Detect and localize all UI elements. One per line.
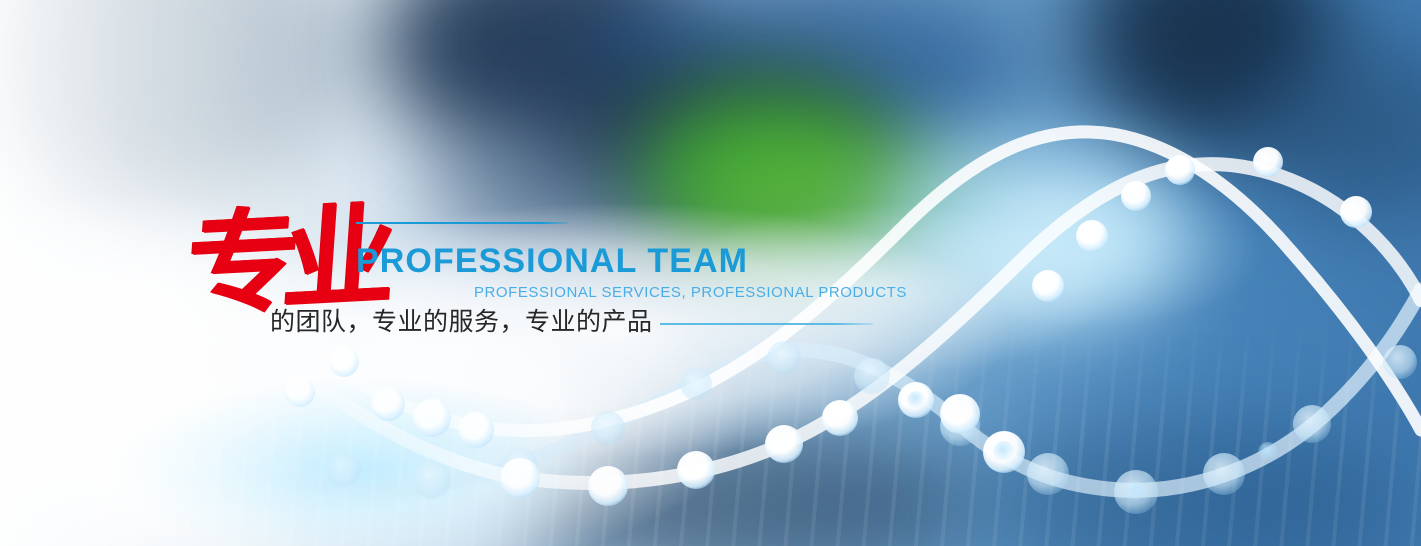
banner-title-english: PROFESSIONAL TEAM: [356, 244, 748, 278]
banner-subtitle-chinese: 的团队，专业的服务，专业的产品: [270, 307, 653, 337]
decorative-rule-bottom: [660, 323, 873, 325]
banner-content: 专业 PROFESSIONAL TEAM PROFESSIONAL SERVIC…: [0, 0, 1421, 546]
banner-subtitle-english: PROFESSIONAL SERVICES, PROFESSIONAL PROD…: [474, 285, 907, 300]
professional-team-banner: 专业 PROFESSIONAL TEAM PROFESSIONAL SERVIC…: [0, 0, 1421, 546]
decorative-rule-top: [356, 222, 568, 224]
